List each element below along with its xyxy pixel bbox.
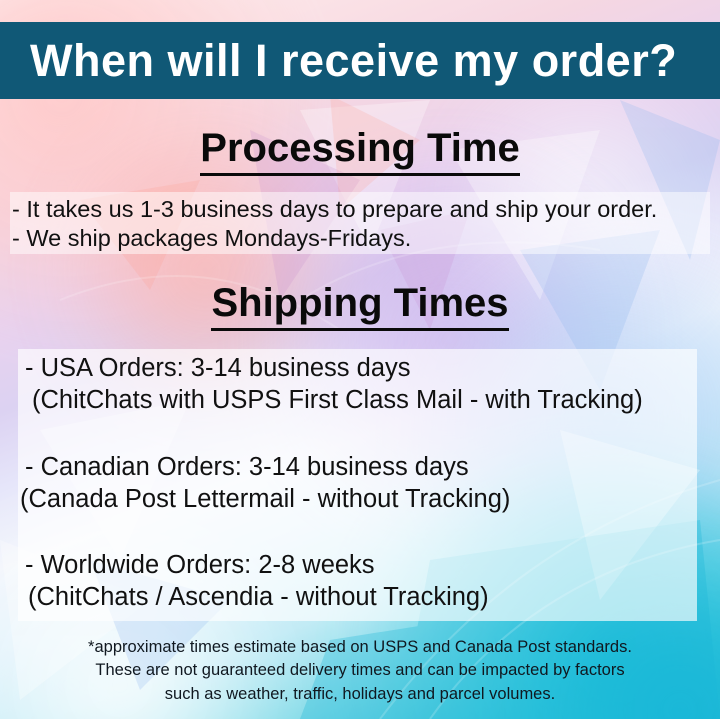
footnote: *approximate times estimate based on USP… — [0, 636, 720, 706]
footnote-line-1: *approximate times estimate based on USP… — [0, 636, 720, 659]
usa-orders-line: - USA Orders: 3-14 business days — [25, 353, 411, 385]
worldwide-orders-line: - Worldwide Orders: 2-8 weeks — [25, 550, 375, 582]
footnote-line-3: such as weather, traffic, holidays and p… — [0, 683, 720, 706]
poster-content: Processing Time - It takes us 1-3 busine… — [0, 0, 720, 719]
shipping-times-heading: Shipping Times — [0, 283, 720, 323]
processing-line-1: - It takes us 1-3 business days to prepa… — [12, 195, 657, 224]
shipping-times-heading-text: Shipping Times — [211, 281, 508, 331]
processing-line-2: - We ship packages Mondays-Fridays. — [12, 224, 411, 253]
canadian-orders-line: - Canadian Orders: 3-14 business days — [25, 452, 469, 484]
usa-orders-detail: (ChitChats with USPS First Class Mail - … — [32, 385, 643, 417]
processing-time-heading-text: Processing Time — [200, 126, 519, 176]
worldwide-orders-detail: (ChitChats / Ascendia - without Tracking… — [28, 582, 489, 614]
shipping-info-poster: When will I receive my order? Processing… — [0, 0, 720, 719]
footnote-line-2: These are not guaranteed delivery times … — [0, 659, 720, 682]
canadian-orders-detail: (Canada Post Lettermail - without Tracki… — [20, 484, 510, 516]
processing-time-heading: Processing Time — [0, 128, 720, 168]
